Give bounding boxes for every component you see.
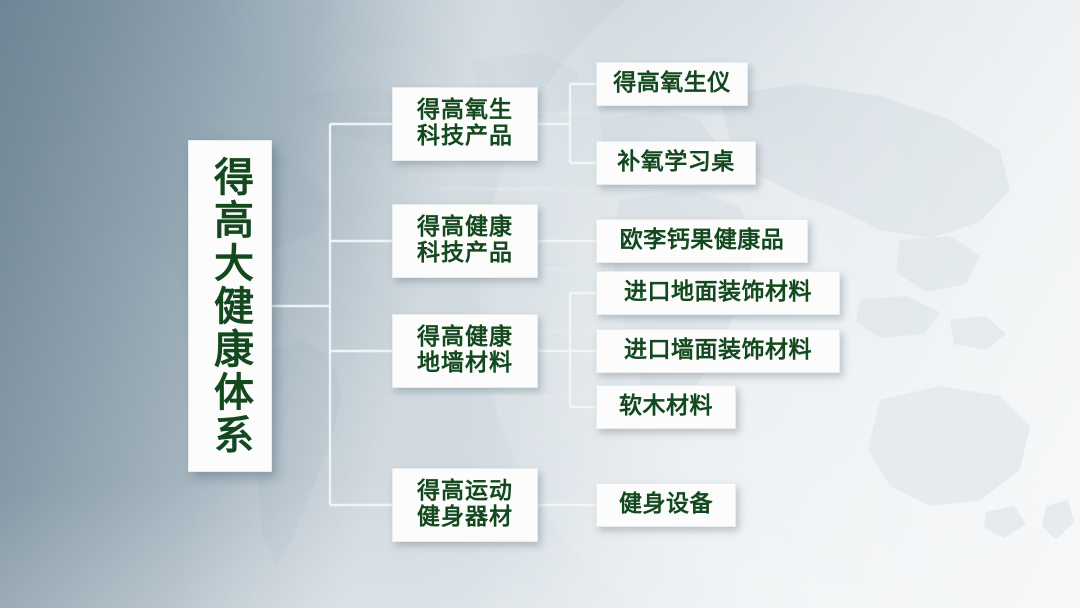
node-leaf-oxygen-device[interactable]: 得高氧生仪 <box>596 62 748 106</box>
node-branch-4-label: 得高运动 健身器材 <box>417 479 513 531</box>
node-leaf-wall-material[interactable]: 进口墙面装饰材料 <box>596 329 840 373</box>
node-branch-4[interactable]: 得高运动 健身器材 <box>392 468 538 542</box>
node-branch-1[interactable]: 得高氧生 科技产品 <box>392 87 538 161</box>
node-branch-1-label: 得高氧生 科技产品 <box>417 98 513 150</box>
node-leaf-cork-material-label: 软木材料 <box>619 394 713 420</box>
node-leaf-fitness-equipment[interactable]: 健身设备 <box>596 483 736 527</box>
node-leaf-health-food-label: 欧李钙果健康品 <box>620 228 785 254</box>
node-leaf-health-food[interactable]: 欧李钙果健康品 <box>596 219 808 263</box>
node-leaf-oxygen-device-label: 得高氧生仪 <box>613 71 731 97</box>
node-root[interactable]: 得高大健康体系 <box>188 140 272 472</box>
node-branch-3-label: 得高健康 地墙材料 <box>417 325 513 377</box>
connector-lines <box>0 0 1080 608</box>
node-root-label: 得高大健康体系 <box>210 156 250 457</box>
node-leaf-cork-material[interactable]: 软木材料 <box>596 385 736 429</box>
node-leaf-oxygen-desk[interactable]: 补氧学习桌 <box>596 141 756 185</box>
node-branch-3[interactable]: 得高健康 地墙材料 <box>392 314 538 388</box>
slide-canvas: 得高大健康体系 得高氧生 科技产品 得高健康 科技产品 得高健康 地墙材料 得高… <box>0 0 1080 608</box>
node-leaf-wall-material-label: 进口墙面装饰材料 <box>624 338 812 364</box>
node-leaf-fitness-equipment-label: 健身设备 <box>619 492 713 518</box>
node-leaf-floor-material-label: 进口地面装饰材料 <box>624 280 812 306</box>
node-leaf-oxygen-desk-label: 补氧学习桌 <box>617 150 735 176</box>
node-branch-2-label: 得高健康 科技产品 <box>417 215 513 267</box>
node-leaf-floor-material[interactable]: 进口地面装饰材料 <box>596 271 840 315</box>
node-branch-2[interactable]: 得高健康 科技产品 <box>392 204 538 278</box>
